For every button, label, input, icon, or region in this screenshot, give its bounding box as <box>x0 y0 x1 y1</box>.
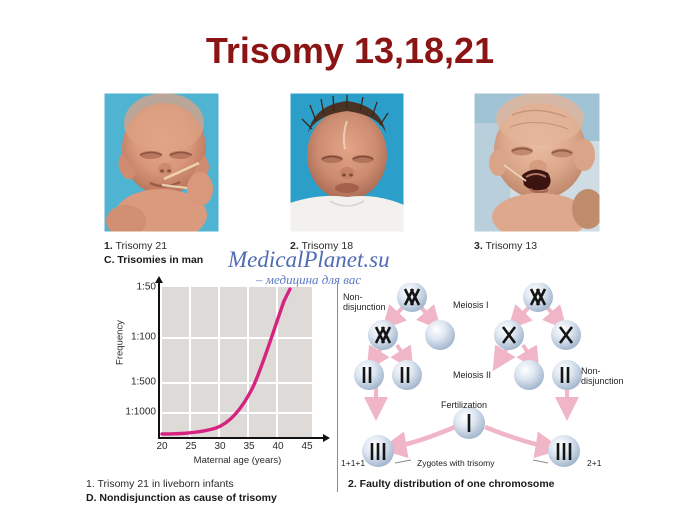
photo-trisomy-21 <box>104 93 219 232</box>
infant-photo-1-image <box>104 93 219 232</box>
x-tick-label: 20 <box>147 441 177 452</box>
watermark: MedicalPlanet.su – медицина для вас <box>228 248 468 288</box>
chart-x-axis-arrow <box>323 434 330 442</box>
y-tick-label: 1:50 <box>112 282 156 293</box>
meiosis2-cell-d <box>552 360 582 390</box>
x-tick-label: 30 <box>205 441 235 452</box>
slide-canvas: Trisomy 13,18,21 <box>0 0 700 525</box>
chart-plot-area <box>160 287 312 437</box>
nondisjunction-diagram: Non- disjunction Meiosis I Meiosis II No… <box>345 283 610 478</box>
meiosis2-cell-b <box>392 360 422 390</box>
label-result-left: 1+1+1 <box>341 458 365 468</box>
label-meiosis-2: Meiosis II <box>453 371 491 381</box>
caption-photo-2-number: 2. <box>290 240 299 252</box>
page-title: Trisomy 13,18,21 <box>0 30 700 72</box>
label-nondisjunction-right: Non- disjunction <box>581 367 624 386</box>
zygote-left-trisomy <box>362 435 394 467</box>
caption-photo-1: 1. Trisomy 21 <box>104 240 167 252</box>
parent-cell-right <box>523 283 553 312</box>
photo-trisomy-13 <box>474 93 600 232</box>
meiosis1-right-cell-x2 <box>551 320 581 350</box>
meiosis1-left-cell-empty <box>425 320 455 350</box>
x-tick-label: 40 <box>263 441 293 452</box>
chart-y-axis-line <box>158 281 160 439</box>
section-d-label: D. Nondisjunction as cause of trisomy <box>86 492 277 504</box>
chart-y-ticks: 1:50 1:100 1:500 1:1000 <box>110 285 156 437</box>
caption-photo-1-text: Trisomy 21 <box>113 240 167 252</box>
label-result-right: 2+1 <box>587 458 601 468</box>
caption-photo-2: 2. Trisomy 18 <box>290 240 353 252</box>
chart-caption: 1. Trisomy 21 in liveborn infants <box>86 478 234 490</box>
meiosis2-cell-a <box>354 360 384 390</box>
x-tick-label: 45 <box>292 441 322 452</box>
chart-curve <box>160 287 312 437</box>
chart-x-axis-line <box>158 437 324 439</box>
parent-cell-left <box>397 283 427 312</box>
caption-photo-3-number: 3. <box>474 240 483 252</box>
label-meiosis-1: Meiosis I <box>453 301 489 311</box>
label-nondisjunction-left: Non- disjunction <box>343 293 386 312</box>
label-fertilization: Fertilization <box>441 401 487 411</box>
y-tick-label: 1:100 <box>112 332 156 343</box>
caption-photo-1-number: 1. <box>104 240 113 252</box>
y-tick-label: 1:500 <box>112 377 156 388</box>
infant-photo-2-image <box>290 93 404 232</box>
label-zygotes-with-trisomy: Zygotes with trisomy <box>417 458 494 468</box>
infant-photo-3-image <box>474 93 600 232</box>
diagram-caption: 2. Faulty distribution of one chromosome <box>348 478 555 490</box>
x-tick-label: 35 <box>234 441 264 452</box>
x-tick-label: 25 <box>176 441 206 452</box>
caption-photo-3-text: Trisomy 13 <box>483 240 537 252</box>
panel-divider <box>337 283 338 492</box>
fertilizing-gamete <box>453 407 485 439</box>
chart-trisomy-21-frequency: Frequency 1:50 1:100 1:500 1:1000 20 25 <box>96 285 331 450</box>
section-c-label: C. Trisomies in man <box>104 254 203 266</box>
meiosis1-right-cell-x1 <box>494 320 524 350</box>
chart-x-axis-label: Maternal age (years) <box>160 455 315 466</box>
chart-y-axis-arrow <box>155 276 163 283</box>
meiosis2-cell-empty <box>514 360 544 390</box>
caption-photo-2-text: Trisomy 18 <box>299 240 353 252</box>
meiosis1-left-cell-xx <box>368 320 398 350</box>
photo-trisomy-18 <box>290 93 404 232</box>
zygote-right-trisomy <box>548 435 580 467</box>
caption-photo-3: 3. Trisomy 13 <box>474 240 537 252</box>
y-tick-label: 1:1000 <box>112 407 156 418</box>
